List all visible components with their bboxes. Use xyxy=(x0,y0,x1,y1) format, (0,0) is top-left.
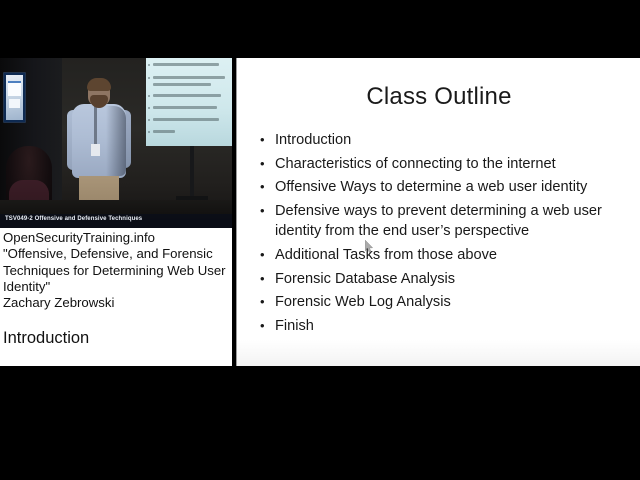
slide-bullet-item: Introduction xyxy=(253,130,631,151)
monitor-window xyxy=(8,81,21,96)
projection-screen xyxy=(146,58,232,146)
video-player-viewport: TSV049-2 Offensive and Defensive Techniq… xyxy=(0,0,640,480)
monitor-screen xyxy=(6,75,23,120)
presenter-badge xyxy=(91,144,100,156)
slide-bullet-list: Introduction Characteristics of connecti… xyxy=(253,130,631,339)
slide-bullet-item: Finish xyxy=(253,316,631,337)
presenter-name: Zachary Zebrowski xyxy=(3,295,226,311)
course-title-line-3: Identity" xyxy=(3,279,226,295)
lecture-camera-view: TSV049-2 Offensive and Defensive Techniq… xyxy=(0,58,232,228)
slide-bullet-item: Additional Tasks from those above xyxy=(253,245,631,266)
computer-monitor xyxy=(3,72,26,123)
presenter-lanyard xyxy=(94,106,97,146)
slide-bullet-item: Characteristics of connecting to the int… xyxy=(253,154,631,175)
course-title-line-1: "Offensive, Defensive, and Forensic xyxy=(3,246,226,262)
slide-title: Class Outline xyxy=(237,83,640,111)
presenter-hair xyxy=(87,78,111,91)
slide-bullet-item: Forensic Database Analysis xyxy=(253,269,631,290)
mouse-cursor-icon xyxy=(365,240,374,253)
course-title-line-2: Techniques for Determining Web User xyxy=(3,263,226,279)
camera-caption-bar: TSV049-2 Offensive and Defensive Techniq… xyxy=(0,214,232,228)
site-name: OpenSecurityTraining.info xyxy=(3,230,226,246)
talk-information-block: OpenSecurityTraining.info "Offensive, De… xyxy=(0,228,232,311)
video-content-band: TSV049-2 Offensive and Defensive Techniq… xyxy=(0,58,640,366)
slide-bullet-item: Forensic Web Log Analysis xyxy=(253,292,631,313)
slide-panel: Class Outline Introduction Characteristi… xyxy=(236,58,640,366)
presenter-shirt-shading xyxy=(106,106,126,176)
projection-screen-stand xyxy=(190,146,194,198)
camera-caption-text: TSV049-2 Offensive and Defensive Techniq… xyxy=(5,216,142,222)
slide-bullet-item: Defensive ways to prevent determining a … xyxy=(253,201,631,242)
left-panel: TSV049-2 Offensive and Defensive Techniq… xyxy=(0,58,232,366)
slide-bullet-item: Offensive Ways to determine a web user i… xyxy=(253,177,631,198)
slide-bottom-edge xyxy=(237,340,640,366)
section-heading: Introduction xyxy=(3,328,89,348)
monitor-window-secondary xyxy=(9,99,20,108)
